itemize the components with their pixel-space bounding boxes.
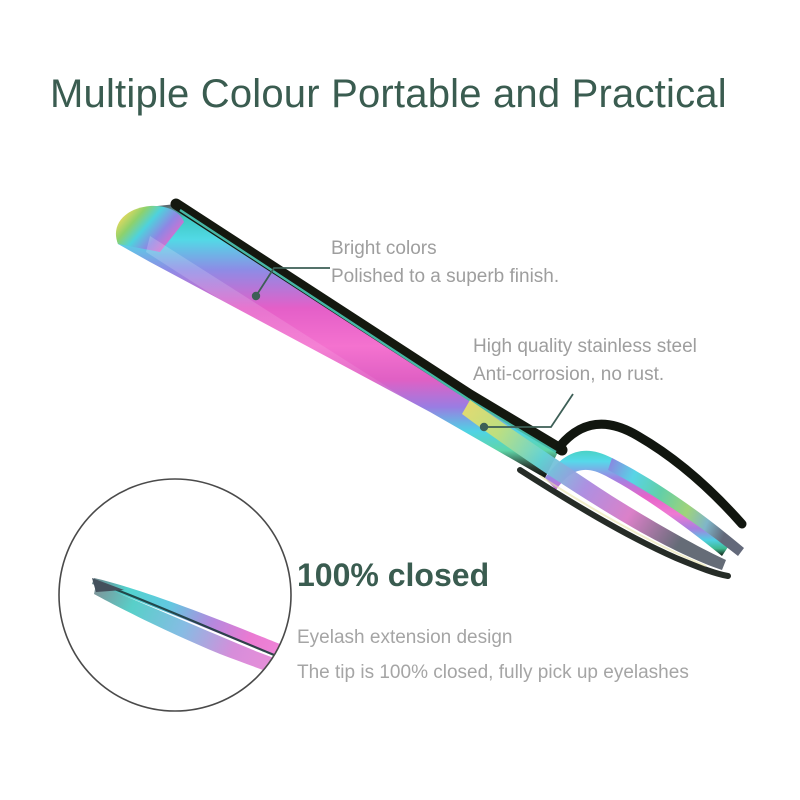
feature-line-1: Eyelash extension design — [297, 620, 689, 655]
feature-description: Eyelash extension design The tip is 100%… — [297, 620, 689, 690]
callout-2-line-1: High quality stainless steel — [473, 333, 697, 361]
callout-2-line-2: Anti-corrosion, no rust. — [473, 361, 697, 389]
feature-line-2: The tip is 100% closed, fully pick up ey… — [297, 655, 689, 690]
callout-stainless-steel: High quality stainless steel Anti-corros… — [473, 333, 697, 389]
feature-heading: 100% closed — [297, 557, 489, 594]
circle-magnifier-inset — [59, 479, 334, 711]
callout-bright-colors: Bright colors Polished to a superb finis… — [331, 235, 559, 291]
leader-anchor-dot-2 — [480, 423, 488, 431]
magnifier-background — [59, 479, 291, 711]
callout-1-line-2: Polished to a superb finish. — [331, 263, 559, 291]
callout-1-line-1: Bright colors — [331, 235, 559, 263]
leader-anchor-dot-1 — [252, 292, 260, 300]
product-infographic: Multiple Colour Portable and Practical — [0, 0, 800, 800]
